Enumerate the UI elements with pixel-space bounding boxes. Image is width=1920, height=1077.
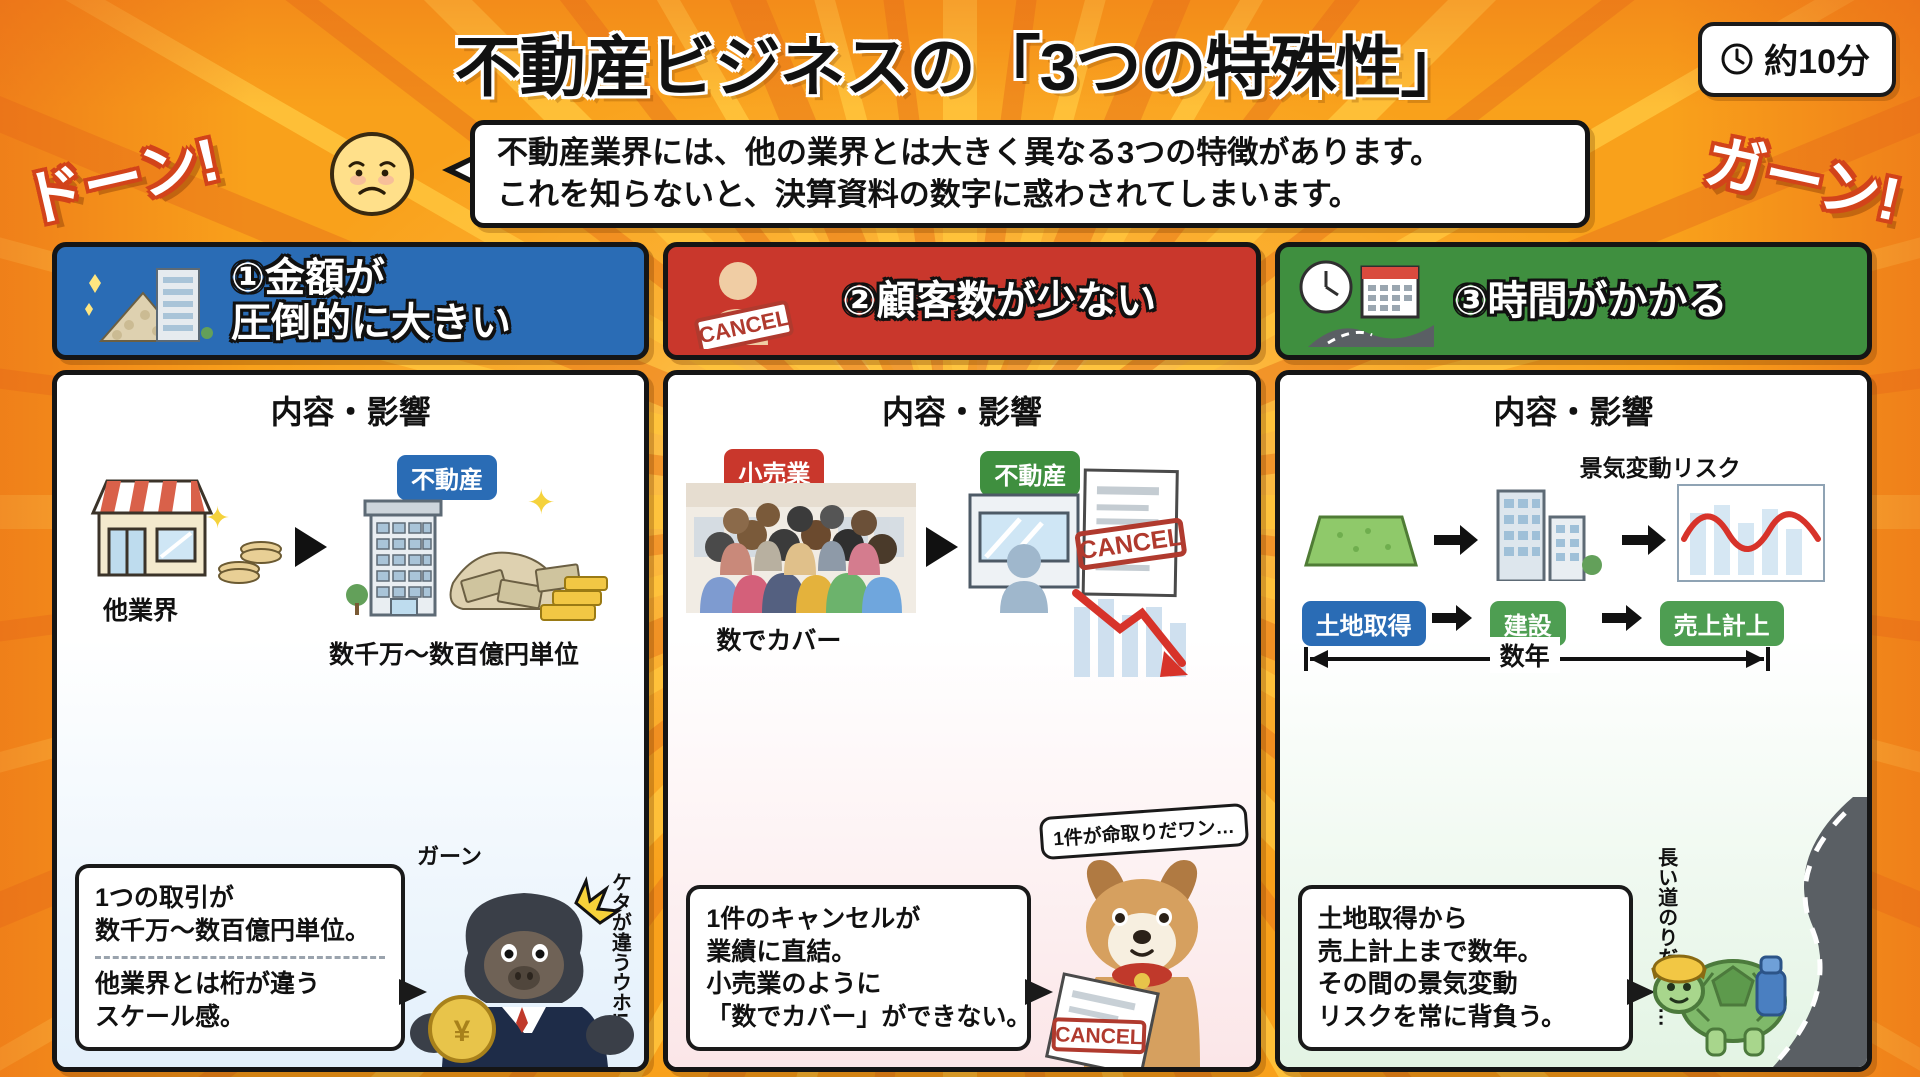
worried-face-icon	[330, 132, 414, 216]
right-onomatopoeia: ガーン!	[1698, 112, 1909, 238]
card-amount-note: 1つの取引が 数千万〜数百億円単位。 他業界とは桁が違う スケール感。	[75, 864, 405, 1051]
card-time-diagram: 景気変動リスク	[1280, 439, 1867, 674]
right-arrow-icon	[1620, 523, 1668, 557]
card-customers-left-caption: 数でカバー	[716, 621, 841, 657]
card-time-step-1: 土地取得	[1302, 601, 1426, 646]
note-line: 1つの取引が	[95, 882, 385, 915]
sparkle-icon: ✦	[205, 501, 230, 536]
right-arrow-icon	[1432, 523, 1480, 557]
note-line: 土地取得から	[1318, 903, 1613, 936]
card-amount-right-caption: 数千万〜数百億円単位	[329, 635, 579, 671]
note-line: 業績に直結。	[706, 936, 1011, 969]
crowd-of-customers-icon	[686, 483, 916, 613]
right-arrow-icon	[1430, 603, 1474, 633]
note-line: 数千万〜数百億円単位。	[95, 915, 385, 948]
card-amount-body: 内容・影響	[52, 370, 649, 1072]
turtle-icon	[1649, 913, 1809, 1063]
down-arrow-chart-icon	[1064, 579, 1204, 687]
note-line: その間の景気変動	[1318, 968, 1613, 1001]
coins-icon	[215, 531, 287, 587]
card-time: ③時間がかかる 内容・影響 景気変動リスク	[1275, 242, 1872, 1072]
right-triangle-arrow	[922, 525, 962, 569]
card-time-body-title: 内容・影響	[1280, 375, 1867, 433]
card-amount: ①金額が 圧倒的に大きい 内容・影響	[52, 242, 649, 1072]
card-customers-diagram: 小売業	[668, 439, 1255, 674]
card-time-body: 内容・影響 景気変動リスク	[1275, 370, 1872, 1072]
wave-line-chart-icon	[1676, 483, 1826, 583]
time-badge: 約10分	[1698, 22, 1896, 97]
building-and-money-pile-icon	[71, 253, 221, 349]
right-arrow-icon	[1600, 603, 1644, 633]
card-customers-body: 内容・影響 小売業	[663, 370, 1260, 1072]
clock-calendar-road-icon	[1294, 253, 1444, 349]
page-title: 不動産ビジネスの「3つの特殊性」	[455, 14, 1466, 110]
card-time-step-3: 売上計上	[1660, 601, 1784, 646]
dog-icon: CANCEL	[1036, 851, 1256, 1067]
note-line: 小売業のように	[706, 968, 1011, 1001]
note-line: 1件のキャンセルが	[706, 903, 1011, 936]
person-with-cancel-stamp-icon: CANCEL	[682, 253, 832, 349]
cards-row: ①金額が 圧倒的に大きい 内容・影響	[52, 242, 1872, 1072]
card-customers-header: CANCEL ②顧客数が少ない	[663, 242, 1260, 360]
intro-line-2: これを知らないと、決算資料の数字に惑わされてしまいます。	[497, 174, 1563, 216]
card-amount-left-caption: 他業界	[103, 591, 178, 627]
sparkle-icon: ✦	[527, 483, 556, 523]
card-amount-header: ①金額が 圧倒的に大きい	[52, 242, 649, 360]
card-customers-title: ②顧客数が少ない	[842, 279, 1156, 324]
left-onomatopoeia: ドーン!	[15, 111, 227, 240]
land-plot-icon	[1298, 509, 1418, 577]
card-time-span-label: 数年	[1490, 637, 1560, 673]
svg-text:¥: ¥	[454, 1015, 471, 1048]
building-icon	[1488, 473, 1608, 581]
note-line: スケール感。	[95, 1001, 385, 1034]
shop-storefront-icon	[87, 467, 217, 587]
note-divider	[95, 956, 385, 959]
time-badge-label: 約10分	[1764, 34, 1870, 83]
note-line: 売上計上まで数年。	[1318, 936, 1613, 969]
card-amount-title: ①金額が 圧倒的に大きい	[231, 256, 511, 346]
card-customers-body-title: 内容・影響	[668, 375, 1255, 433]
right-triangle-arrow	[291, 525, 331, 569]
note-line: 他業界とは桁が違う	[95, 968, 385, 1001]
cash-and-gold-pile-icon	[441, 513, 611, 633]
card-time-note: 土地取得から 売上計上まで数年。 その間の景気変動 リスクを常に背負う。	[1298, 885, 1633, 1051]
svg-text:CANCEL: CANCEL	[1054, 1023, 1142, 1049]
note-line: リスクを常に背負う。	[1318, 1001, 1613, 1034]
clock-icon	[1720, 42, 1754, 76]
gorilla-icon: ¥	[410, 857, 640, 1067]
intro-line-1: 不動産業界には、他の業界とは大きく異なる3つの特徴があります。	[497, 132, 1563, 174]
card-amount-body-title: 内容・影響	[57, 375, 644, 433]
card-customers-note: 1件のキャンセルが 業績に直結。 小売業のように 「数でカバー」ができない。	[686, 885, 1031, 1051]
card-time-header: ③時間がかかる	[1275, 242, 1872, 360]
title-bar: 不動産ビジネスの「3つの特殊性」 約10分	[0, 8, 1920, 112]
card-amount-diagram: 他業界 ✦ 不動産	[57, 439, 644, 674]
intro-speech-bubble: 不動産業界には、他の業界とは大きく異なる3つの特徴があります。 これを知らないと…	[470, 120, 1590, 228]
card-time-title: ③時間がかかる	[1454, 279, 1728, 324]
note-line: 「数でカバー」ができない。	[706, 1001, 1011, 1034]
card-customers: CANCEL ②顧客数が少ない 内容・影響 小売業	[663, 242, 1260, 1072]
intro-row: ドーン! ガーン! 不動産業界には、他の業界とは大きく異なる3つの特徴があります…	[0, 118, 1920, 233]
